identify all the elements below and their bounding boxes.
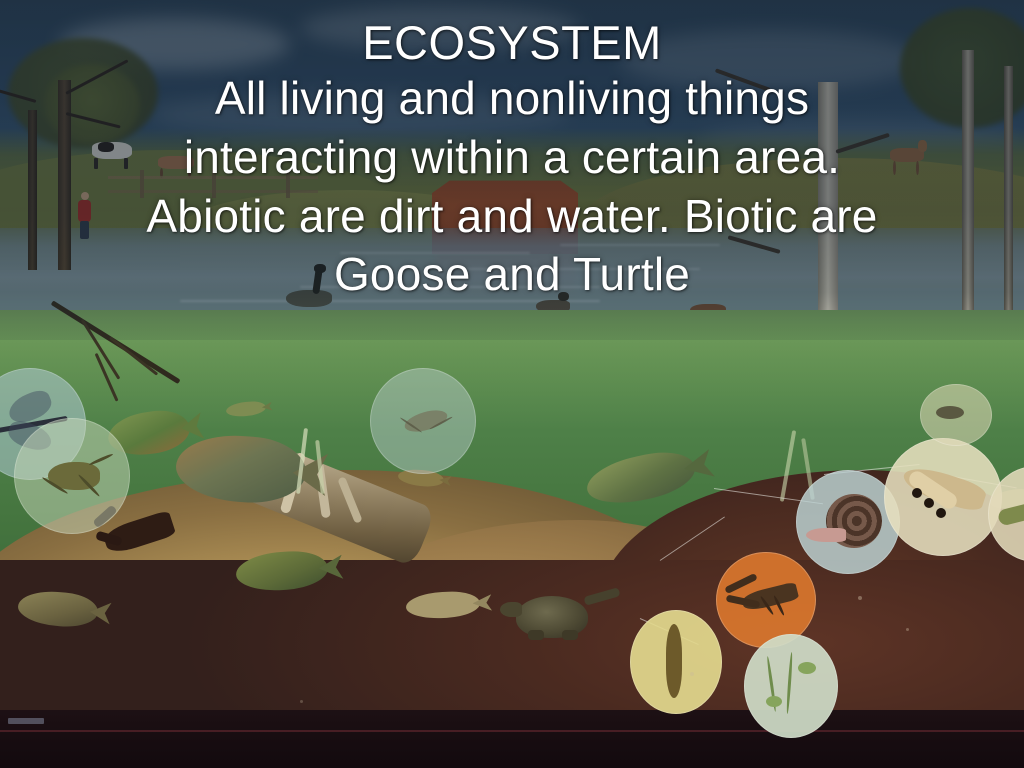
plant-stem — [786, 652, 793, 714]
magnifier-algae-plants — [744, 634, 838, 738]
magnifier-water-flea — [920, 384, 992, 446]
water-flea-body — [936, 406, 964, 419]
larva-body — [997, 497, 1024, 526]
fish-minnow — [405, 590, 480, 620]
leech-body — [666, 624, 682, 698]
slide-body-line-4: Goose and Turtle — [0, 245, 1024, 304]
mud-speck — [690, 672, 694, 676]
mud-speck — [906, 628, 909, 631]
magnifier-water-insect — [370, 368, 476, 474]
fish-perch — [235, 549, 329, 593]
bottom-band — [0, 710, 1024, 768]
larva-segment — [936, 508, 946, 518]
magnifier-mayfly-nymph — [14, 418, 130, 534]
signature-mark — [8, 718, 44, 724]
magnifier-caddisfly-larva — [884, 438, 1002, 556]
larva-segment — [924, 498, 934, 508]
fish-body — [174, 432, 308, 507]
slide-body-line-2: interacting within a certain area. — [0, 128, 1024, 187]
mud-speck — [858, 596, 862, 600]
presentation-slide: ECOSYSTEM All living and nonliving thing… — [0, 0, 1024, 768]
bottom-accent-line — [0, 730, 1024, 732]
fish-body — [235, 549, 329, 593]
nymph-antenna — [89, 453, 114, 466]
plant-leaf — [798, 662, 816, 674]
turtle-leg — [528, 630, 544, 640]
plant-leaf — [766, 696, 782, 707]
fish-body — [405, 590, 480, 620]
magnifier-leech — [630, 610, 722, 714]
crayfish-claw — [724, 573, 758, 594]
slide-text-block: ECOSYSTEM All living and nonliving thing… — [0, 18, 1024, 304]
snail-foot — [806, 528, 846, 542]
larva-segment — [912, 488, 922, 498]
slide-body-line-3: Abiotic are dirt and water. Biotic are — [0, 187, 1024, 246]
fish-perch — [17, 589, 100, 630]
fish-body — [17, 589, 100, 630]
fish-sunfish — [174, 432, 308, 507]
turtle-head — [500, 602, 522, 617]
magnifier-crayfish — [716, 552, 816, 648]
slide-body-line-1: All living and nonliving things — [0, 69, 1024, 128]
turtle-leg — [562, 630, 578, 640]
page-title: ECOSYSTEM — [0, 18, 1024, 69]
mud-speck — [300, 700, 303, 703]
